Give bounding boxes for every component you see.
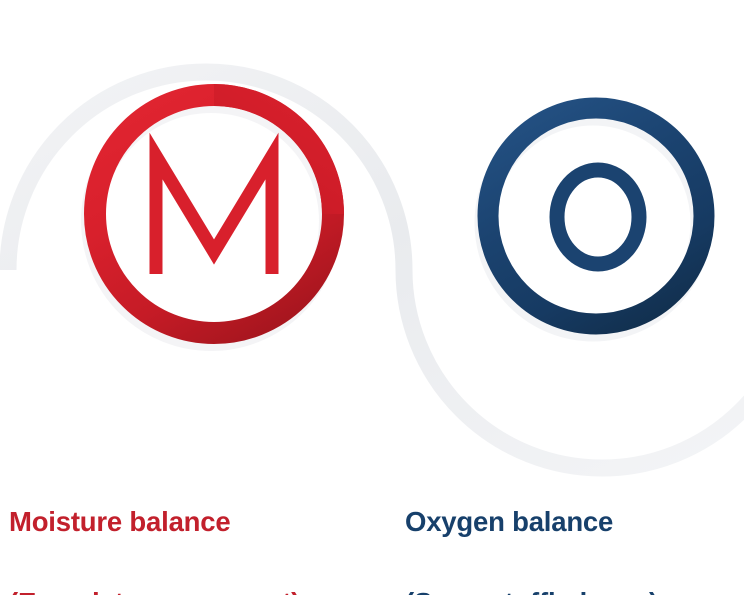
caption-oxygen-line2: (Sauerstoffbalance) <box>405 583 744 595</box>
caption-moisture-line1: Moisture balance <box>9 502 399 542</box>
caption-moisture-line2: (Exsudatmanagement) <box>9 583 399 595</box>
graphic-canvas: Moisture balance (Exsudatmanagement) Oxy… <box>0 0 744 595</box>
caption-moisture-balance: Moisture balance (Exsudatmanagement) <box>9 462 399 595</box>
caption-oxygen-line1: Oxygen balance <box>405 502 744 542</box>
caption-oxygen-balance: Oxygen balance (Sauerstoffbalance) <box>405 462 744 595</box>
